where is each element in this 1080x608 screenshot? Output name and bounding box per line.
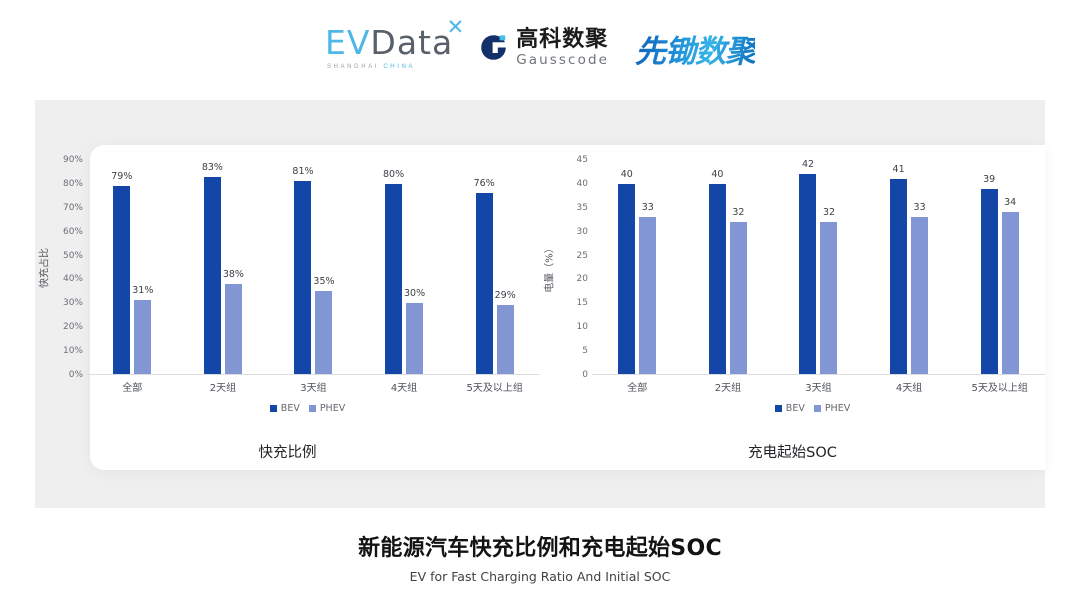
bar-bev[interactable]: 41 xyxy=(890,179,907,374)
legend-label: PHEV xyxy=(825,403,850,414)
charts-row: 快充占比 90%80%70%60%50%40%30%20%10%0% 79%31… xyxy=(35,100,1045,508)
bar-value-label: 83% xyxy=(202,162,223,173)
bar-value-label: 33 xyxy=(642,202,654,213)
bar-column: 32 xyxy=(820,160,837,374)
evdata-tagline-country: CHINA xyxy=(383,64,415,70)
legend-0: BEVPHEV xyxy=(35,403,540,414)
legend-swatch-icon xyxy=(814,405,821,412)
y-tick-1-3: 30 xyxy=(577,227,588,237)
plot-wrap-0: 快充占比 90%80%70%60%50%40%30%20%10%0% 79%31… xyxy=(35,160,540,375)
bar-group: 79%31% xyxy=(87,160,178,374)
bar-value-label: 32 xyxy=(732,207,744,218)
chart-title-0: 快充比例 xyxy=(35,441,540,462)
chart-title-1: 充电起始SOC xyxy=(540,441,1045,462)
bar-column: 33 xyxy=(911,160,928,374)
bar-phev[interactable]: 29% xyxy=(497,305,514,374)
legend-1: BEVPHEV xyxy=(540,403,1045,414)
bar-value-label: 40 xyxy=(711,169,723,180)
bar-groups-1: 40334032423241333934 xyxy=(592,160,1045,374)
evdata-cross-icon: ✕ xyxy=(447,17,466,38)
bar-group: 4032 xyxy=(683,160,774,374)
bar-column: 33 xyxy=(639,160,656,374)
x-tick-label: 全部 xyxy=(87,379,178,394)
y-axis-ticks-0: 90%80%70%60%50%40%30%20%10%0% xyxy=(51,160,87,375)
evdata-wordmark: EVData✕ xyxy=(325,26,453,59)
bar-column: 38% xyxy=(225,160,242,374)
x-tick-label: 3天组 xyxy=(773,379,864,394)
bar-phev[interactable]: 34 xyxy=(1002,212,1019,374)
y-tick-0-8: 10% xyxy=(63,346,83,356)
bar-column: 31% xyxy=(134,160,151,374)
bar-column: 29% xyxy=(497,160,514,374)
bar-group: 80%30% xyxy=(359,160,450,374)
logo-bar: EVData✕ SHANGHAI CHINA 高科数聚 Gausscode 先锄… xyxy=(0,18,1080,78)
x-tick-label: 全部 xyxy=(592,379,683,394)
plot-wrap-1: 电量（%） 454035302520151050 403340324232413… xyxy=(540,160,1045,375)
xianfeng-logo: 先锄数聚 xyxy=(635,26,755,71)
footer-title: 新能源汽车快充比例和充电起始SOC xyxy=(0,530,1080,562)
y-tick-1-5: 20 xyxy=(577,274,588,284)
legend-item-phev[interactable]: PHEV xyxy=(309,403,345,414)
legend-swatch-icon xyxy=(775,405,782,412)
y-tick-1-6: 15 xyxy=(577,298,588,308)
x-tick-label: 4天组 xyxy=(864,379,955,394)
bar-column: 76% xyxy=(476,160,493,374)
bar-value-label: 81% xyxy=(292,166,313,177)
bar-column: 79% xyxy=(113,160,130,374)
bar-bev[interactable]: 40 xyxy=(709,184,726,374)
y-tick-1-7: 10 xyxy=(577,322,588,332)
y-tick-0-0: 90% xyxy=(63,155,83,165)
bar-value-label: 76% xyxy=(474,178,495,189)
bar-column: 42 xyxy=(799,160,816,374)
bar-phev[interactable]: 32 xyxy=(730,222,747,374)
bar-bev[interactable]: 40 xyxy=(618,184,635,374)
bar-group: 4033 xyxy=(592,160,683,374)
bar-bev[interactable]: 42 xyxy=(799,174,816,374)
bar-value-label: 31% xyxy=(132,285,153,296)
bar-value-label: 32 xyxy=(823,207,835,218)
bar-phev[interactable]: 33 xyxy=(639,217,656,374)
bar-group: 4133 xyxy=(864,160,955,374)
y-tick-0-5: 40% xyxy=(63,274,83,284)
y-tick-0-3: 60% xyxy=(63,227,83,237)
y-tick-1-4: 25 xyxy=(577,251,588,261)
bar-bev[interactable]: 76% xyxy=(476,193,493,374)
bar-column: 35% xyxy=(315,160,332,374)
bar-column: 34 xyxy=(1002,160,1019,374)
bar-column: 32 xyxy=(730,160,747,374)
evdata-data-text: Data xyxy=(370,23,453,62)
x-tick-label: 4天组 xyxy=(359,379,450,394)
evdata-logo: EVData✕ SHANGHAI CHINA xyxy=(325,26,453,70)
bar-value-label: 79% xyxy=(111,171,132,182)
bar-group: 81%35% xyxy=(268,160,359,374)
gausscode-logo: 高科数聚 Gausscode xyxy=(479,29,609,68)
bar-bev[interactable]: 83% xyxy=(204,177,221,374)
bar-value-label: 35% xyxy=(313,276,334,287)
y-tick-0-2: 70% xyxy=(63,203,83,213)
bar-column: 80% xyxy=(385,160,402,374)
evdata-tagline-city: SHANGHAI xyxy=(327,64,383,70)
y-tick-0-7: 20% xyxy=(63,322,83,332)
bar-bev[interactable]: 80% xyxy=(385,184,402,374)
bar-bev[interactable]: 79% xyxy=(113,186,130,374)
y-tick-0-6: 30% xyxy=(63,298,83,308)
legend-item-phev[interactable]: PHEV xyxy=(814,403,850,414)
legend-item-bev[interactable]: BEV xyxy=(270,403,300,414)
y-tick-1-0: 45 xyxy=(577,155,588,165)
x-tick-label: 2天组 xyxy=(683,379,774,394)
y-tick-0-4: 50% xyxy=(63,251,83,261)
y-tick-1-1: 40 xyxy=(577,179,588,189)
gausscode-mark-icon xyxy=(479,33,509,63)
bar-groups-0: 79%31%83%38%81%35%80%30%76%29% xyxy=(87,160,540,374)
gausscode-en-name: Gausscode xyxy=(516,54,609,68)
bar-value-label: 38% xyxy=(223,269,244,280)
chart-panel-initial-soc: 电量（%） 454035302520151050 403340324232413… xyxy=(540,100,1045,508)
footer: 新能源汽车快充比例和充电起始SOC EV for Fast Charging R… xyxy=(0,530,1080,584)
y-tick-0-1: 80% xyxy=(63,179,83,189)
bar-value-label: 39 xyxy=(983,174,995,185)
bar-value-label: 30% xyxy=(404,288,425,299)
bar-group: 4232 xyxy=(773,160,864,374)
x-tick-label: 5天及以上组 xyxy=(954,379,1045,394)
bar-phev[interactable]: 33 xyxy=(911,217,928,374)
legend-label: PHEV xyxy=(320,403,345,414)
legend-swatch-icon xyxy=(309,405,316,412)
bar-value-label: 34 xyxy=(1004,197,1016,208)
legend-item-bev[interactable]: BEV xyxy=(775,403,805,414)
bar-value-label: 42 xyxy=(802,159,814,170)
evdata-ev-text: EV xyxy=(325,23,370,62)
bar-value-label: 80% xyxy=(383,169,404,180)
bar-column: 39 xyxy=(981,160,998,374)
y-axis-title-label-1: 电量（%） xyxy=(541,243,556,293)
chart-panel-fast-charging-ratio: 快充占比 90%80%70%60%50%40%30%20%10%0% 79%31… xyxy=(35,100,540,508)
bar-column: 40 xyxy=(618,160,635,374)
legend-label: BEV xyxy=(786,403,805,414)
bar-column: 83% xyxy=(204,160,221,374)
bar-group: 83%38% xyxy=(178,160,269,374)
bar-column: 81% xyxy=(294,160,311,374)
bar-bev[interactable]: 81% xyxy=(294,181,311,374)
x-tick-label: 3天组 xyxy=(268,379,359,394)
y-axis-title-label-0: 快充占比 xyxy=(36,248,51,288)
y-tick-1-2: 35 xyxy=(577,203,588,213)
legend-swatch-icon xyxy=(270,405,277,412)
bar-group: 76%29% xyxy=(449,160,540,374)
plot-area-1: 40334032423241333934 xyxy=(592,160,1045,375)
bar-phev[interactable]: 32 xyxy=(820,222,837,374)
x-axis-labels-0: 全部2天组3天组4天组5天及以上组 xyxy=(35,379,540,394)
footer-subtitle: EV for Fast Charging Ratio And Initial S… xyxy=(0,569,1080,584)
y-axis-title-0: 快充占比 xyxy=(35,160,51,375)
bar-value-label: 29% xyxy=(495,290,516,301)
bar-column: 41 xyxy=(890,160,907,374)
y-axis-title-1: 电量（%） xyxy=(540,160,556,375)
bar-value-label: 41 xyxy=(893,164,905,175)
bar-value-label: 33 xyxy=(914,202,926,213)
plot-area-0: 79%31%83%38%81%35%80%30%76%29% xyxy=(87,160,540,375)
x-tick-label: 2天组 xyxy=(178,379,269,394)
gausscode-text: 高科数聚 Gausscode xyxy=(516,29,609,68)
bar-bev[interactable]: 39 xyxy=(981,189,998,374)
y-tick-1-8: 5 xyxy=(582,346,588,356)
bar-column: 40 xyxy=(709,160,726,374)
bar-group: 3934 xyxy=(954,160,1045,374)
bar-phev[interactable]: 30% xyxy=(406,303,423,374)
legend-label: BEV xyxy=(281,403,300,414)
x-tick-label: 5天及以上组 xyxy=(449,379,540,394)
evdata-tagline: SHANGHAI CHINA xyxy=(327,64,415,70)
y-axis-ticks-1: 454035302520151050 xyxy=(556,160,592,375)
bar-phev[interactable]: 38% xyxy=(225,284,242,374)
bar-phev[interactable]: 35% xyxy=(315,291,332,374)
bar-value-label: 40 xyxy=(621,169,633,180)
bar-phev[interactable]: 31% xyxy=(134,300,151,374)
bar-column: 30% xyxy=(406,160,423,374)
x-axis-labels-1: 全部2天组3天组4天组5天及以上组 xyxy=(540,379,1045,394)
gausscode-cn-name: 高科数聚 xyxy=(516,29,609,51)
